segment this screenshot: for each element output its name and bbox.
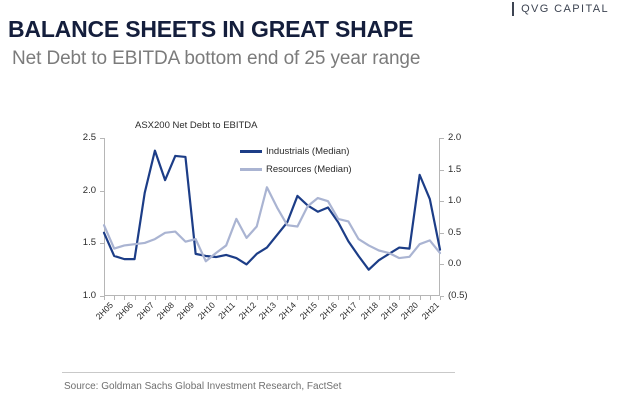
x-axis-tick: [114, 296, 115, 300]
x-axis-tick: [267, 296, 268, 300]
y-axis-left-label: 1.0: [83, 291, 96, 301]
chart-legend: Industrials (Median)Resources (Median): [240, 146, 352, 182]
y-axis-left-tick: [100, 243, 104, 244]
x-axis-tick: [318, 296, 319, 300]
x-axis-tick: [379, 296, 380, 300]
x-axis-label: 2H15: [297, 300, 318, 321]
x-axis-tick: [399, 296, 400, 300]
legend-label: Industrials (Median): [266, 146, 349, 157]
y-axis-right-tick: [440, 264, 444, 265]
y-axis-left-tick: [100, 138, 104, 139]
x-axis-label: 2H07: [134, 300, 155, 321]
x-axis-tick: [206, 296, 207, 300]
brand-logo: QVG CAPITAL: [512, 2, 609, 16]
x-axis-tick: [328, 296, 329, 300]
y-axis-right-tick: [440, 170, 444, 171]
y-axis-left-label: 2.0: [83, 186, 96, 196]
legend-label: Resources (Median): [266, 164, 352, 175]
page-title: BALANCE SHEETS IN GREAT SHAPE: [8, 16, 413, 43]
y-axis-right-label: (0.5): [448, 291, 468, 301]
x-axis-tick: [135, 296, 136, 300]
brand-name: QVG CAPITAL: [521, 3, 609, 15]
x-axis-label: 2H10: [195, 300, 216, 321]
y-axis-right-label: 1.0: [448, 196, 461, 206]
brand-divider-bar: [512, 2, 514, 16]
legend-item[interactable]: Resources (Median): [240, 164, 352, 175]
x-axis-tick: [359, 296, 360, 300]
x-axis-tick: [185, 296, 186, 300]
y-axis-right-label: 1.5: [448, 165, 461, 175]
x-axis-tick: [124, 296, 125, 300]
x-axis-tick: [216, 296, 217, 300]
x-axis-label: 2H21: [419, 300, 440, 321]
x-axis-tick: [430, 296, 431, 300]
x-axis-tick: [236, 296, 237, 300]
x-axis-label: 2H17: [338, 300, 359, 321]
x-axis-tick: [308, 296, 309, 300]
x-axis-tick: [196, 296, 197, 300]
x-axis-tick: [348, 296, 349, 300]
chart-panel: ASX200 Net Debt to EBITDA 1.01.52.02.5(0…: [60, 118, 560, 358]
x-axis-tick: [440, 296, 441, 300]
x-axis-tick: [226, 296, 227, 300]
series-line: [104, 187, 440, 261]
x-axis-label: 2H11: [216, 300, 237, 321]
x-axis-label: 2H09: [175, 300, 196, 321]
x-axis-label: 2H05: [94, 300, 115, 321]
y-axis-right-tick: [440, 233, 444, 234]
y-axis-right-label: 2.0: [448, 133, 461, 143]
x-axis-label: 2H20: [399, 300, 420, 321]
x-axis-label: 2H08: [155, 300, 176, 321]
x-axis-label: 2H18: [358, 300, 379, 321]
x-axis-tick: [145, 296, 146, 300]
y-axis-left-tick: [100, 191, 104, 192]
y-axis-left-label: 1.5: [83, 238, 96, 248]
legend-swatch-icon: [240, 168, 262, 171]
x-axis-label: 2H06: [114, 300, 135, 321]
x-axis-tick: [389, 296, 390, 300]
chart-title: ASX200 Net Debt to EBITDA: [135, 120, 258, 131]
y-axis-right-tick: [440, 138, 444, 139]
y-axis-right-label: 0.5: [448, 228, 461, 238]
y-axis-right-label: 0.0: [448, 259, 461, 269]
slide-root: QVG CAPITAL BALANCE SHEETS IN GREAT SHAP…: [0, 0, 617, 418]
x-axis-tick: [155, 296, 156, 300]
x-axis-label: 2H14: [277, 300, 298, 321]
y-axis-left-label: 2.5: [83, 133, 96, 143]
x-axis-label: 2H19: [379, 300, 400, 321]
x-axis-tick: [104, 296, 105, 300]
x-axis-tick: [369, 296, 370, 300]
legend-item[interactable]: Industrials (Median): [240, 146, 352, 157]
x-axis-tick: [277, 296, 278, 300]
legend-swatch-icon: [240, 150, 262, 153]
x-axis-tick: [297, 296, 298, 300]
x-axis-label: 2H13: [257, 300, 278, 321]
footer-divider: [62, 372, 455, 373]
x-axis-tick: [165, 296, 166, 300]
x-axis-tick: [338, 296, 339, 300]
x-axis-tick: [247, 296, 248, 300]
source-note: Source: Goldman Sachs Global Investment …: [64, 381, 341, 392]
x-axis-label: 2H16: [318, 300, 339, 321]
x-axis-tick: [420, 296, 421, 300]
x-axis-tick: [175, 296, 176, 300]
y-axis-right-tick: [440, 201, 444, 202]
page-subtitle: Net Debt to EBITDA bottom end of 25 year…: [12, 48, 420, 70]
x-axis-tick: [409, 296, 410, 300]
x-axis-tick: [287, 296, 288, 300]
x-axis-label: 2H12: [236, 300, 257, 321]
x-axis-tick: [257, 296, 258, 300]
